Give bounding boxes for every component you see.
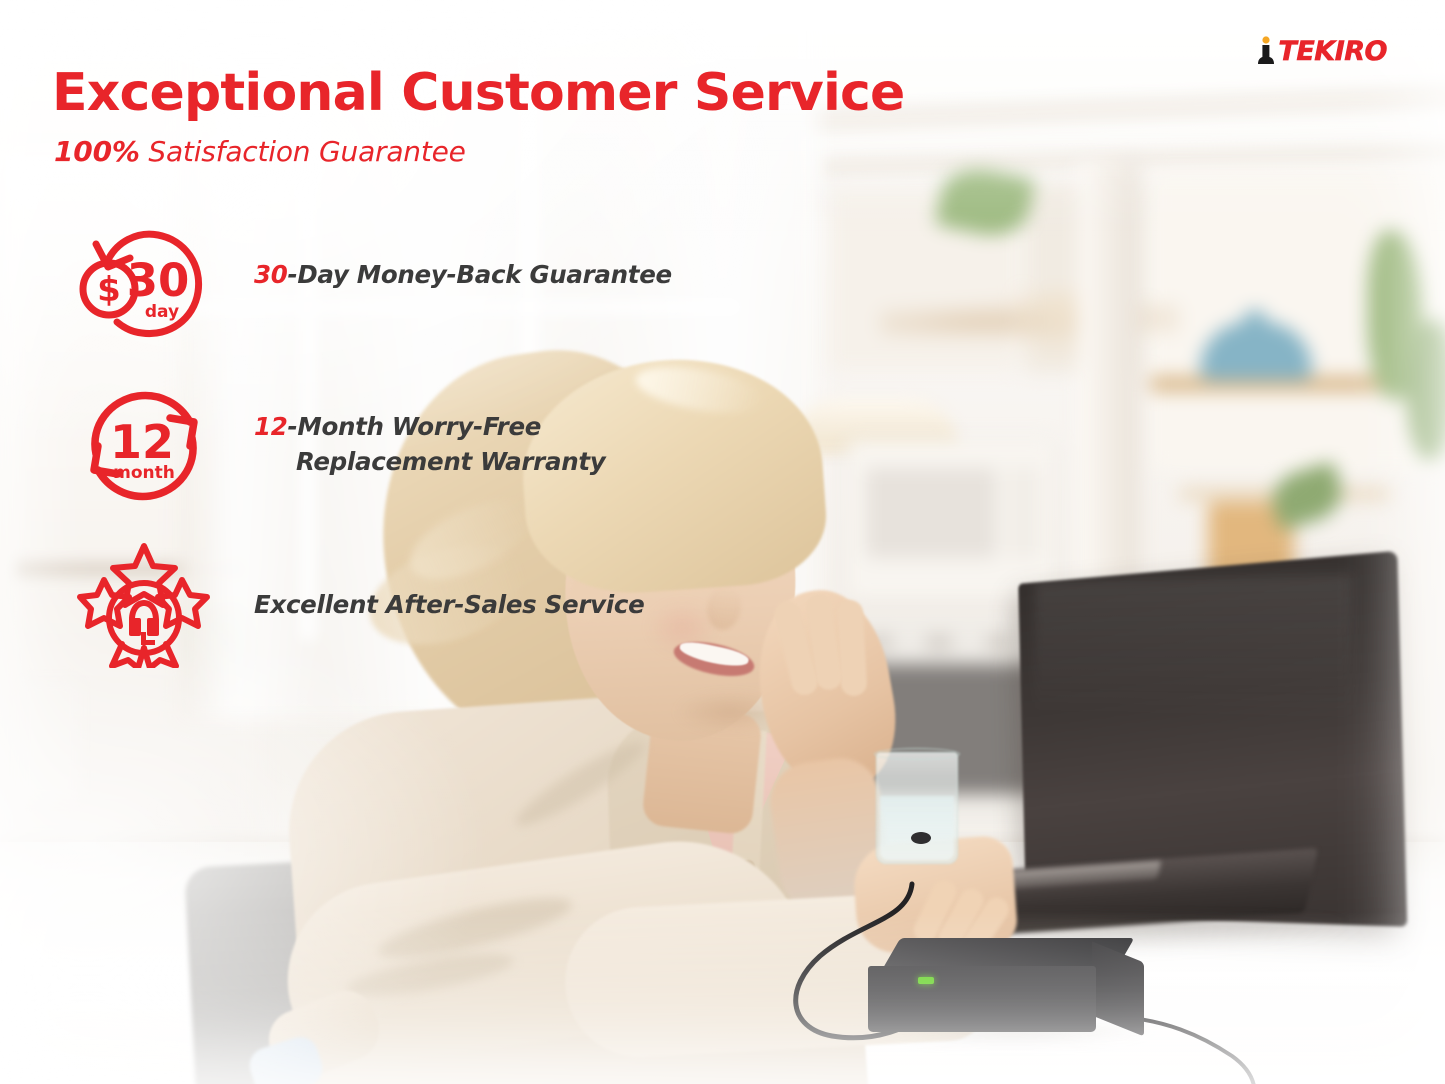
feature-warranty-label: 12-Month Worry-FreeReplacement Warranty xyxy=(254,410,605,480)
twelve-month-warranty-glyph: 12 month xyxy=(74,382,214,510)
feature-text: -Day Money-Back Guarantee xyxy=(288,260,672,289)
overlay-content: TEKIRO Exceptional Customer Service 100%… xyxy=(0,0,1445,1084)
twelve-month-warranty-icon: 12 month xyxy=(74,382,214,510)
after-sales-medal-glyph xyxy=(74,540,214,668)
icon-unit-month: month xyxy=(113,463,175,483)
feature-money-back-label: 30-Day Money-Back Guarantee xyxy=(254,258,672,293)
icon-number-30: 30 xyxy=(127,254,190,307)
feature-after-sales-label: Excellent After-Sales Service xyxy=(254,588,644,623)
thirty-day-money-back-icon: $ 30 day xyxy=(74,222,214,350)
feature-list: $ 30 day 30-Day Money-Back Guarantee xyxy=(0,0,1445,1084)
feature-text: Excellent After-Sales Service xyxy=(254,590,644,619)
feature-text: -Month Worry-Free xyxy=(288,412,542,441)
feature-after-sales: Excellent After-Sales Service xyxy=(74,540,644,668)
after-sales-medal-icon xyxy=(74,540,214,668)
thirty-day-money-back-glyph: $ 30 day xyxy=(74,222,214,350)
feature-text-line2: Replacement Warranty xyxy=(254,445,605,480)
headset-icon xyxy=(129,600,159,645)
feature-warranty: 12 month 12-Month Worry-FreeReplacement … xyxy=(74,382,605,510)
feature-number: 12 xyxy=(254,412,288,441)
feature-money-back: $ 30 day 30-Day Money-Back Guarantee xyxy=(74,222,672,350)
feature-number: 30 xyxy=(254,260,288,289)
banner-stage: TEKIRO Exceptional Customer Service 100%… xyxy=(0,0,1445,1084)
icon-unit-day: day xyxy=(145,302,179,322)
svg-text:$: $ xyxy=(97,270,121,310)
icon-number-12: 12 xyxy=(110,415,174,469)
